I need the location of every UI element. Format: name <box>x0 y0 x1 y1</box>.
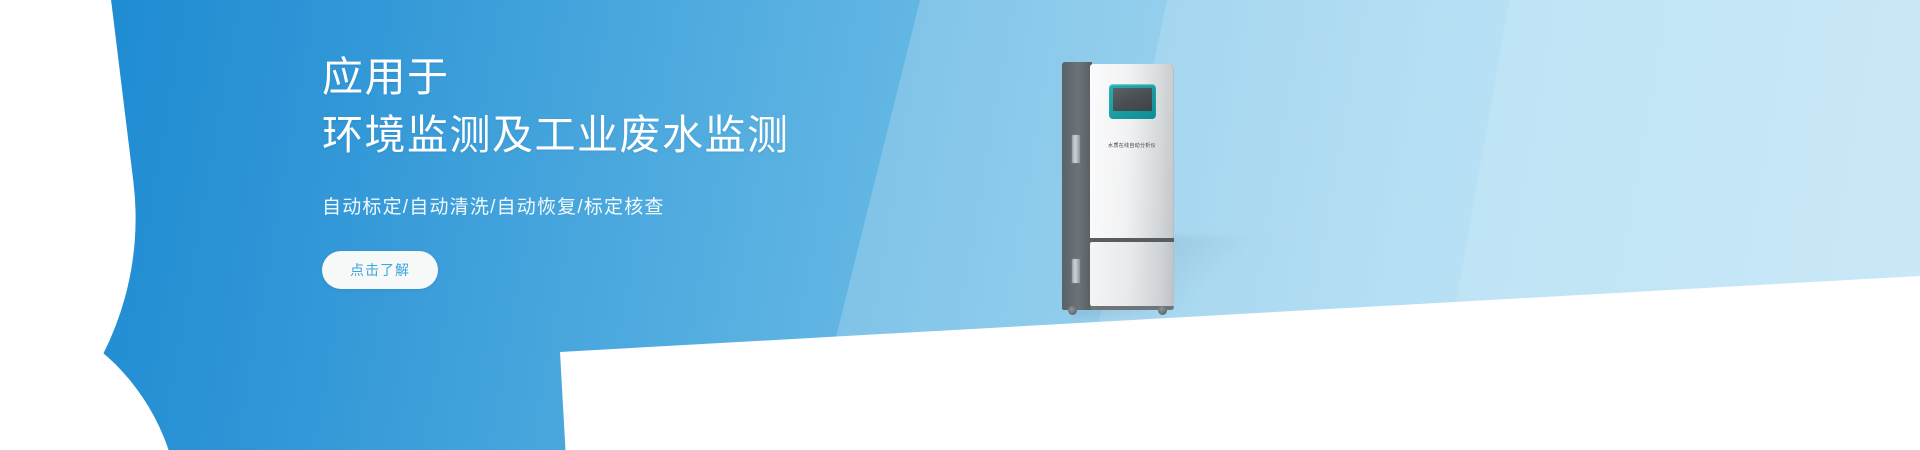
water-quality-analyzer-image: 水质在线自动分析仪 <box>1062 62 1174 310</box>
device-model-label: 水质在线自动分析仪 <box>1092 142 1172 149</box>
door-handle-icon-upper <box>1071 134 1081 164</box>
display-screen-icon <box>1109 84 1156 119</box>
hero-subheadline: 自动标定/自动清洗/自动恢复/标定核查 <box>322 192 1082 219</box>
hero-banner: 应用于 环境监测及工业废水监测 自动标定/自动清洗/自动恢复/标定核查 点击了解… <box>0 0 1920 450</box>
door-handle-icon-lower <box>1071 258 1081 284</box>
display-screen-glass <box>1113 88 1152 111</box>
hero-copy-block: 应用于 环境监测及工业废水监测 自动标定/自动清洗/自动恢复/标定核查 点击了解 <box>322 48 1082 289</box>
learn-more-button[interactable]: 点击了解 <box>322 251 438 289</box>
hero-headline-line-1: 应用于 <box>322 48 1082 106</box>
device-side-panel <box>1062 62 1092 310</box>
caster-wheel-icon-right <box>1158 306 1167 315</box>
hero-headline-line-2: 环境监测及工业废水监测 <box>322 106 1082 164</box>
device-lower-cabinet <box>1090 242 1174 308</box>
caster-wheel-icon-left <box>1068 306 1077 315</box>
